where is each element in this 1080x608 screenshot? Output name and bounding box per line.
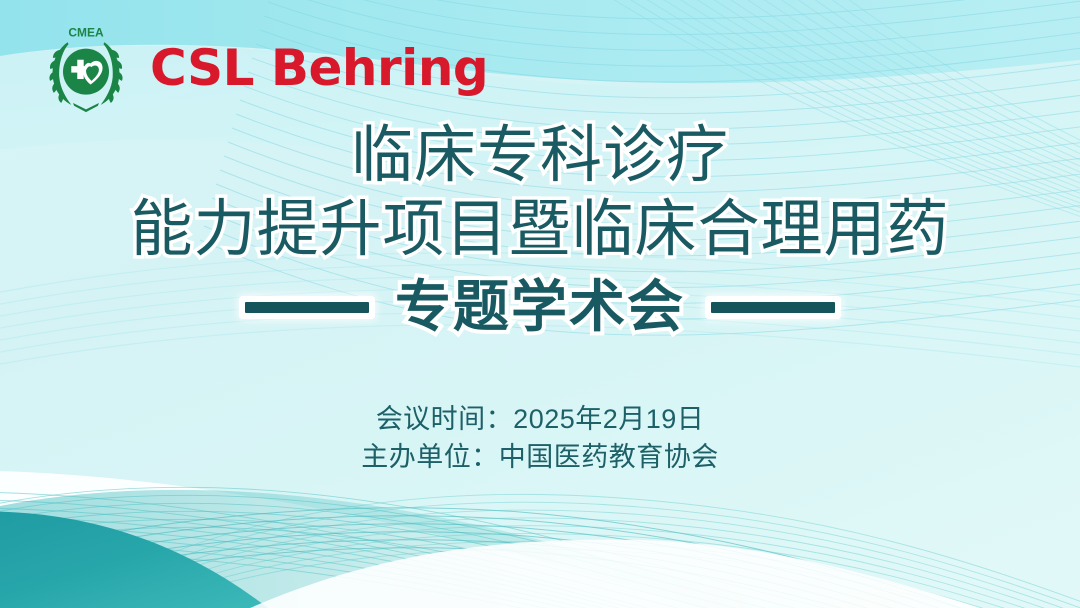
title-line-1: 临床专科诊疗 (0, 122, 1080, 190)
title-line-3: 专题学术会 (395, 276, 685, 339)
csl-behring-wordmark: CSL Behring (150, 43, 488, 93)
cmea-emblem-icon: CMEA (40, 22, 132, 114)
decorative-rule-right (711, 302, 835, 313)
meeting-datetime: 会议时间：2025年2月19日 (0, 400, 1080, 438)
title-block: 临床专科诊疗 能力提升项目暨临床合理用药 专题学术会 (0, 122, 1080, 339)
conference-title-slide: CMEA (0, 0, 1080, 608)
meta-block: 会议时间：2025年2月19日 主办单位：中国医药教育协会 (0, 400, 1080, 477)
brand-bar: CMEA (40, 22, 488, 114)
title-line-2: 能力提升项目暨临床合理用药 (0, 196, 1080, 264)
meeting-organizer: 主办单位：中国医药教育协会 (0, 438, 1080, 476)
decorative-rule-left (245, 302, 369, 313)
svg-text:CMEA: CMEA (68, 26, 104, 40)
title-line-3-row: 专题学术会 (0, 276, 1080, 339)
